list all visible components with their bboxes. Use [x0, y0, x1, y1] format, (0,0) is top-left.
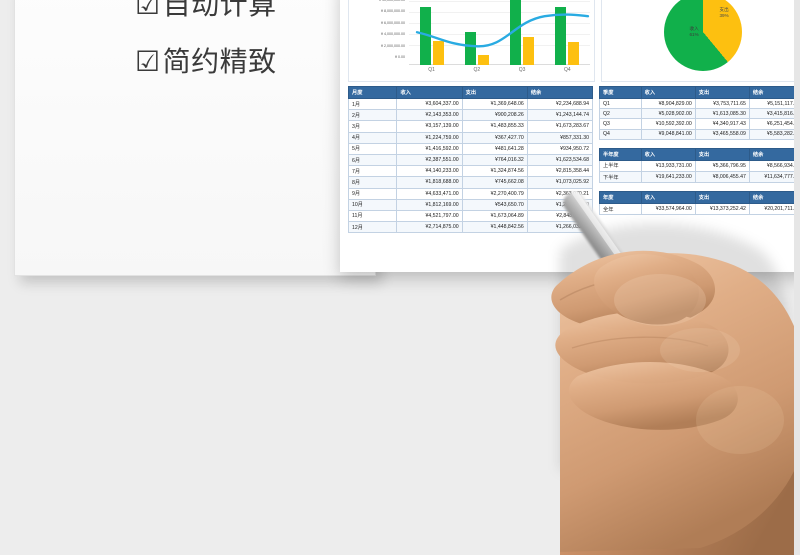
- col-header-expense[interactable]: 支出: [462, 87, 527, 99]
- cell-income[interactable]: ¥1,224,759.00: [397, 132, 462, 143]
- cell-expense[interactable]: ¥13,373,252.42: [695, 204, 749, 215]
- cell-expense[interactable]: ¥1,369,648.06: [462, 99, 527, 110]
- cell-quarter[interactable]: Q3: [600, 119, 642, 129]
- cell-balance[interactable]: ¥3,415,816.70: [749, 109, 800, 119]
- cell-expense[interactable]: ¥8,006,455.47: [695, 171, 749, 182]
- cell-balance[interactable]: ¥2,234,688.94: [527, 99, 592, 110]
- cell-balance[interactable]: ¥2,815,358.44: [527, 166, 592, 177]
- cell-month[interactable]: 7月: [349, 166, 397, 177]
- pie-label-income-name: 收入: [690, 26, 699, 31]
- cell-income[interactable]: ¥10,592,392.00: [641, 119, 695, 129]
- col-header-year[interactable]: 年度: [600, 192, 642, 204]
- col-header-halfyear[interactable]: 半年度: [600, 148, 642, 160]
- cell-income[interactable]: ¥8,904,829.00: [641, 99, 695, 109]
- cell-expense[interactable]: ¥1,324,874.56: [462, 166, 527, 177]
- promo-feature-1-label: 自动计算: [163, 0, 277, 21]
- table-header-row: 半年度 收入 支出 结余: [600, 148, 800, 160]
- y-tick-label: ¥ 2,000,000.00: [381, 44, 405, 48]
- col-header-expense[interactable]: 支出: [695, 87, 749, 99]
- cell-balance[interactable]: ¥1,073,025.92: [527, 177, 592, 188]
- cell-balance[interactable]: ¥1,266,032.44: [527, 222, 592, 233]
- col-header-income[interactable]: 收入: [641, 192, 695, 204]
- table-row[interactable]: 1月¥3,604,337.00¥1,369,648.06¥2,234,688.9…: [349, 99, 593, 110]
- col-header-balance[interactable]: 结余: [749, 148, 800, 160]
- cell-balance[interactable]: ¥1,243,144.74: [527, 110, 592, 121]
- col-header-expense[interactable]: 支出: [695, 148, 749, 160]
- cell-expense[interactable]: ¥4,340,917.43: [695, 119, 749, 129]
- col-header-income[interactable]: 收入: [641, 148, 695, 160]
- cell-expense[interactable]: ¥481,641.28: [462, 143, 527, 154]
- income-expense-pie-chart: 收入 61% 支出 39%: [601, 0, 800, 82]
- cell-income[interactable]: ¥4,633,471.00: [397, 188, 462, 199]
- cell-month[interactable]: 8月: [349, 177, 397, 188]
- monthly-table[interactable]: 月度 收入 支出 结余 1月¥3,604,337.00¥1,369,648.06…: [348, 86, 593, 233]
- cell-expense[interactable]: ¥2,270,400.79: [462, 188, 527, 199]
- cell-expense[interactable]: ¥1,673,064.89: [462, 210, 527, 221]
- cell-quarter[interactable]: Q1: [600, 99, 642, 109]
- canvas-right-edge: [794, 0, 800, 555]
- pie-label-income: 收入 61%: [690, 26, 699, 38]
- cell-income[interactable]: ¥4,140,233.00: [397, 166, 462, 177]
- table-row[interactable]: 10月¥1,812,169.00¥543,650.70¥1,268,518.30: [349, 199, 593, 210]
- cell-income[interactable]: ¥33,574,964.00: [641, 204, 695, 215]
- checkbox-checked-icon: ☑: [135, 47, 161, 77]
- cell-expense[interactable]: ¥900,208.26: [462, 110, 527, 121]
- cell-expense[interactable]: ¥3,465,558.09: [695, 129, 749, 139]
- table-row[interactable]: 4月¥1,224,759.00¥367,427.70¥857,331.30: [349, 132, 593, 143]
- pie-chart-area: 收入 61% 支出 39%: [602, 0, 800, 81]
- cell-month[interactable]: 1月: [349, 99, 397, 110]
- year-table-body: 全年¥33,574,964.00¥13,373,252.42¥20,201,71…: [600, 204, 800, 215]
- halfyear-table-body: 上半年¥13,933,731.00¥5,366,796.95¥8,566,934…: [600, 160, 800, 182]
- cell-income[interactable]: ¥4,521,797.00: [397, 210, 462, 221]
- promo-card-surface: ☑自动计算 ☑简约精致: [15, 0, 375, 275]
- summary-tables-column: 季度 收入 支出 结余 Q1¥8,904,829.00¥3,753,711.65…: [599, 86, 800, 272]
- table-row[interactable]: 12月¥2,714,875.00¥1,448,842.56¥1,266,032.…: [349, 222, 593, 233]
- cell-balance[interactable]: ¥1,268,518.30: [527, 199, 592, 210]
- cell-month[interactable]: 4月: [349, 132, 397, 143]
- table-row[interactable]: 2月¥2,143,353.00¥900,208.26¥1,243,144.74: [349, 110, 593, 121]
- y-tick-label: ¥ 0.00: [395, 55, 405, 59]
- table-row[interactable]: 全年¥33,574,964.00¥13,373,252.42¥20,201,71…: [600, 204, 800, 215]
- cell-expense[interactable]: ¥1,448,842.56: [462, 222, 527, 233]
- cell-income[interactable]: ¥2,387,551.00: [397, 154, 462, 165]
- cell-income[interactable]: ¥2,143,353.00: [397, 110, 462, 121]
- monthly-table-body: 1月¥3,604,337.00¥1,369,648.06¥2,234,688.9…: [349, 99, 593, 233]
- x-tick-label: Q3: [500, 67, 545, 79]
- cell-expense[interactable]: ¥543,650.70: [462, 199, 527, 210]
- cell-income[interactable]: ¥5,028,902.00: [641, 109, 695, 119]
- cell-halfyear[interactable]: 上半年: [600, 160, 642, 171]
- year-table[interactable]: 年度 收入 支出 结余 全年¥33,574,964.00¥13,373,252.…: [599, 191, 800, 215]
- cell-month[interactable]: 6月: [349, 154, 397, 165]
- table-header-row: 年度 收入 支出 结余: [600, 192, 800, 204]
- pie-label-expense: 支出 39%: [720, 7, 729, 19]
- pie-shape: 收入 61% 支出 39%: [664, 0, 742, 71]
- cell-income[interactable]: ¥3,157,139.00: [397, 121, 462, 132]
- y-tick-label: ¥ 8,000,000.00: [381, 9, 405, 13]
- table-row[interactable]: 3月¥3,157,139.00¥1,483,855.33¥1,673,283.6…: [349, 121, 593, 132]
- table-row[interactable]: 8月¥1,818,688.00¥745,662.08¥1,073,025.92: [349, 177, 593, 188]
- table-row[interactable]: 下半年¥19,641,233.00¥8,006,455.47¥11,634,77…: [600, 171, 800, 182]
- cell-balance[interactable]: ¥20,201,711.58: [749, 204, 800, 215]
- col-header-month[interactable]: 月度: [349, 87, 397, 99]
- col-header-balance[interactable]: 结余: [749, 87, 800, 99]
- bar-chart-x-axis: Q1 Q2 Q3 Q4: [409, 67, 590, 79]
- col-header-balance[interactable]: 结余: [749, 192, 800, 204]
- pie-label-expense-name: 支出: [720, 7, 729, 12]
- col-header-quarter[interactable]: 季度: [600, 87, 642, 99]
- bar-chart-y-axis: ¥ 12,000,000.00 ¥ 10,000,000.00 ¥ 8,000,…: [351, 0, 407, 67]
- cell-balance[interactable]: ¥857,331.30: [527, 132, 592, 143]
- cell-income[interactable]: ¥3,604,337.00: [397, 99, 462, 110]
- y-tick-label: ¥ 10,000,000.00: [379, 0, 405, 2]
- cell-month[interactable]: 11月: [349, 210, 397, 221]
- cell-month[interactable]: 10月: [349, 199, 397, 210]
- cell-balance[interactable]: ¥1,623,534.68: [527, 154, 592, 165]
- x-tick-label: Q2: [454, 67, 499, 79]
- table-row[interactable]: 6月¥2,387,551.00¥764,016.32¥1,623,534.68: [349, 154, 593, 165]
- y-tick-label: ¥ 4,000,000.00: [381, 32, 405, 36]
- cell-balance[interactable]: ¥2,848,732.11: [527, 210, 592, 221]
- y-tick-label: ¥ 6,000,000.00: [381, 21, 405, 25]
- col-header-balance[interactable]: 结余: [527, 87, 592, 99]
- col-header-expense[interactable]: 支出: [695, 192, 749, 204]
- cell-income[interactable]: ¥2,714,875.00: [397, 222, 462, 233]
- x-tick-label: Q1: [409, 67, 454, 79]
- checkbox-checked-icon: ☑: [135, 0, 161, 20]
- pie-label-expense-pct: 39%: [720, 13, 729, 18]
- cell-expense[interactable]: ¥367,427.70: [462, 132, 527, 143]
- cell-balance[interactable]: ¥8,566,934.05: [749, 160, 800, 171]
- cell-balance[interactable]: ¥1,673,283.67: [527, 121, 592, 132]
- bar-chart-plot-area: [409, 0, 590, 65]
- tables-row: 月度 收入 支出 结余 1月¥3,604,337.00¥1,369,648.06…: [348, 86, 800, 272]
- cell-balance[interactable]: ¥6,251,454.57: [749, 119, 800, 129]
- cell-income[interactable]: ¥1,812,169.00: [397, 199, 462, 210]
- cell-expense[interactable]: ¥1,483,855.33: [462, 121, 527, 132]
- cell-income[interactable]: ¥9,048,841.00: [641, 129, 695, 139]
- table-row[interactable]: Q1¥8,904,829.00¥3,753,711.65¥5,151,117.3…: [600, 99, 800, 109]
- cell-month[interactable]: 12月: [349, 222, 397, 233]
- col-header-income[interactable]: 收入: [641, 87, 695, 99]
- cell-balance[interactable]: ¥2,363,070.21: [527, 188, 592, 199]
- balance-trend-line: [409, 0, 590, 67]
- table-row[interactable]: 5月¥1,416,592.00¥481,641.28¥934,950.72: [349, 143, 593, 154]
- cell-month[interactable]: 9月: [349, 188, 397, 199]
- cell-quarter[interactable]: Q4: [600, 129, 642, 139]
- monthly-table-wrap: 月度 收入 支出 结余 1月¥3,604,337.00¥1,369,648.06…: [348, 86, 593, 272]
- quarterly-bar-chart: ¥ 12,000,000.00 ¥ 10,000,000.00 ¥ 8,000,…: [348, 0, 595, 82]
- quarterly-table[interactable]: 季度 收入 支出 结余 Q1¥8,904,829.00¥3,753,711.65…: [599, 86, 800, 140]
- halfyear-table[interactable]: 半年度 收入 支出 结余 上半年¥13,933,731.00¥5,366,796…: [599, 148, 800, 183]
- quarterly-table-body: Q1¥8,904,829.00¥3,753,711.65¥5,151,117.3…: [600, 99, 800, 140]
- cell-month[interactable]: 5月: [349, 143, 397, 154]
- cell-income[interactable]: ¥19,641,233.00: [641, 171, 695, 182]
- table-row[interactable]: 11月¥4,521,797.00¥1,673,064.89¥2,848,732.…: [349, 210, 593, 221]
- cell-halfyear[interactable]: 下半年: [600, 171, 642, 182]
- cell-expense[interactable]: ¥764,016.32: [462, 154, 527, 165]
- cell-expense[interactable]: ¥5,366,796.95: [695, 160, 749, 171]
- table-row[interactable]: Q4¥9,048,841.00¥3,465,558.09¥5,583,282.9…: [600, 129, 800, 139]
- table-row[interactable]: Q2¥5,028,902.00¥1,613,085.30¥3,415,816.7…: [600, 109, 800, 119]
- cell-income[interactable]: ¥1,416,592.00: [397, 143, 462, 154]
- cell-balance[interactable]: ¥11,634,777.53: [749, 171, 800, 182]
- pie-label-income-pct: 61%: [690, 32, 699, 37]
- col-header-income[interactable]: 收入: [397, 87, 462, 99]
- report-sheet-surface: ¥ 12,000,000.00 ¥ 10,000,000.00 ¥ 8,000,…: [340, 0, 800, 272]
- x-tick-label: Q4: [545, 67, 590, 79]
- cell-balance[interactable]: ¥5,151,117.35: [749, 99, 800, 109]
- promo-feature-2-label: 简约精致: [163, 45, 277, 78]
- promo-card: ☑自动计算 ☑简约精致: [14, 0, 376, 276]
- table-header-row: 月度 收入 支出 结余: [349, 87, 593, 99]
- cell-year[interactable]: 全年: [600, 204, 642, 215]
- promo-feature-1: ☑自动计算: [135, 0, 277, 20]
- table-row[interactable]: Q3¥10,592,392.00¥4,340,917.43¥6,251,454.…: [600, 119, 800, 129]
- cell-month[interactable]: 3月: [349, 121, 397, 132]
- cell-expense[interactable]: ¥3,753,711.65: [695, 99, 749, 109]
- cell-income[interactable]: ¥1,818,688.00: [397, 177, 462, 188]
- cell-balance[interactable]: ¥5,583,282.91: [749, 129, 800, 139]
- promo-feature-2: ☑简约精致: [135, 47, 277, 77]
- report-sheet: ¥ 12,000,000.00 ¥ 10,000,000.00 ¥ 8,000,…: [340, 0, 800, 272]
- cell-income[interactable]: ¥13,933,731.00: [641, 160, 695, 171]
- charts-row: ¥ 12,000,000.00 ¥ 10,000,000.00 ¥ 8,000,…: [348, 0, 800, 82]
- cell-quarter[interactable]: Q2: [600, 109, 642, 119]
- screenshot-canvas: ☑自动计算 ☑简约精致 ¥ 12,000,000.00 ¥ 10,000,000…: [0, 0, 800, 555]
- cell-balance[interactable]: ¥934,950.72: [527, 143, 592, 154]
- cell-expense[interactable]: ¥1,613,085.30: [695, 109, 749, 119]
- cell-month[interactable]: 2月: [349, 110, 397, 121]
- table-row[interactable]: 9月¥4,633,471.00¥2,270,400.79¥2,363,070.2…: [349, 188, 593, 199]
- table-row[interactable]: 7月¥4,140,233.00¥1,324,874.56¥2,815,358.4…: [349, 166, 593, 177]
- table-row[interactable]: 上半年¥13,933,731.00¥5,366,796.95¥8,566,934…: [600, 160, 800, 171]
- cell-expense[interactable]: ¥745,662.08: [462, 177, 527, 188]
- table-header-row: 季度 收入 支出 结余: [600, 87, 800, 99]
